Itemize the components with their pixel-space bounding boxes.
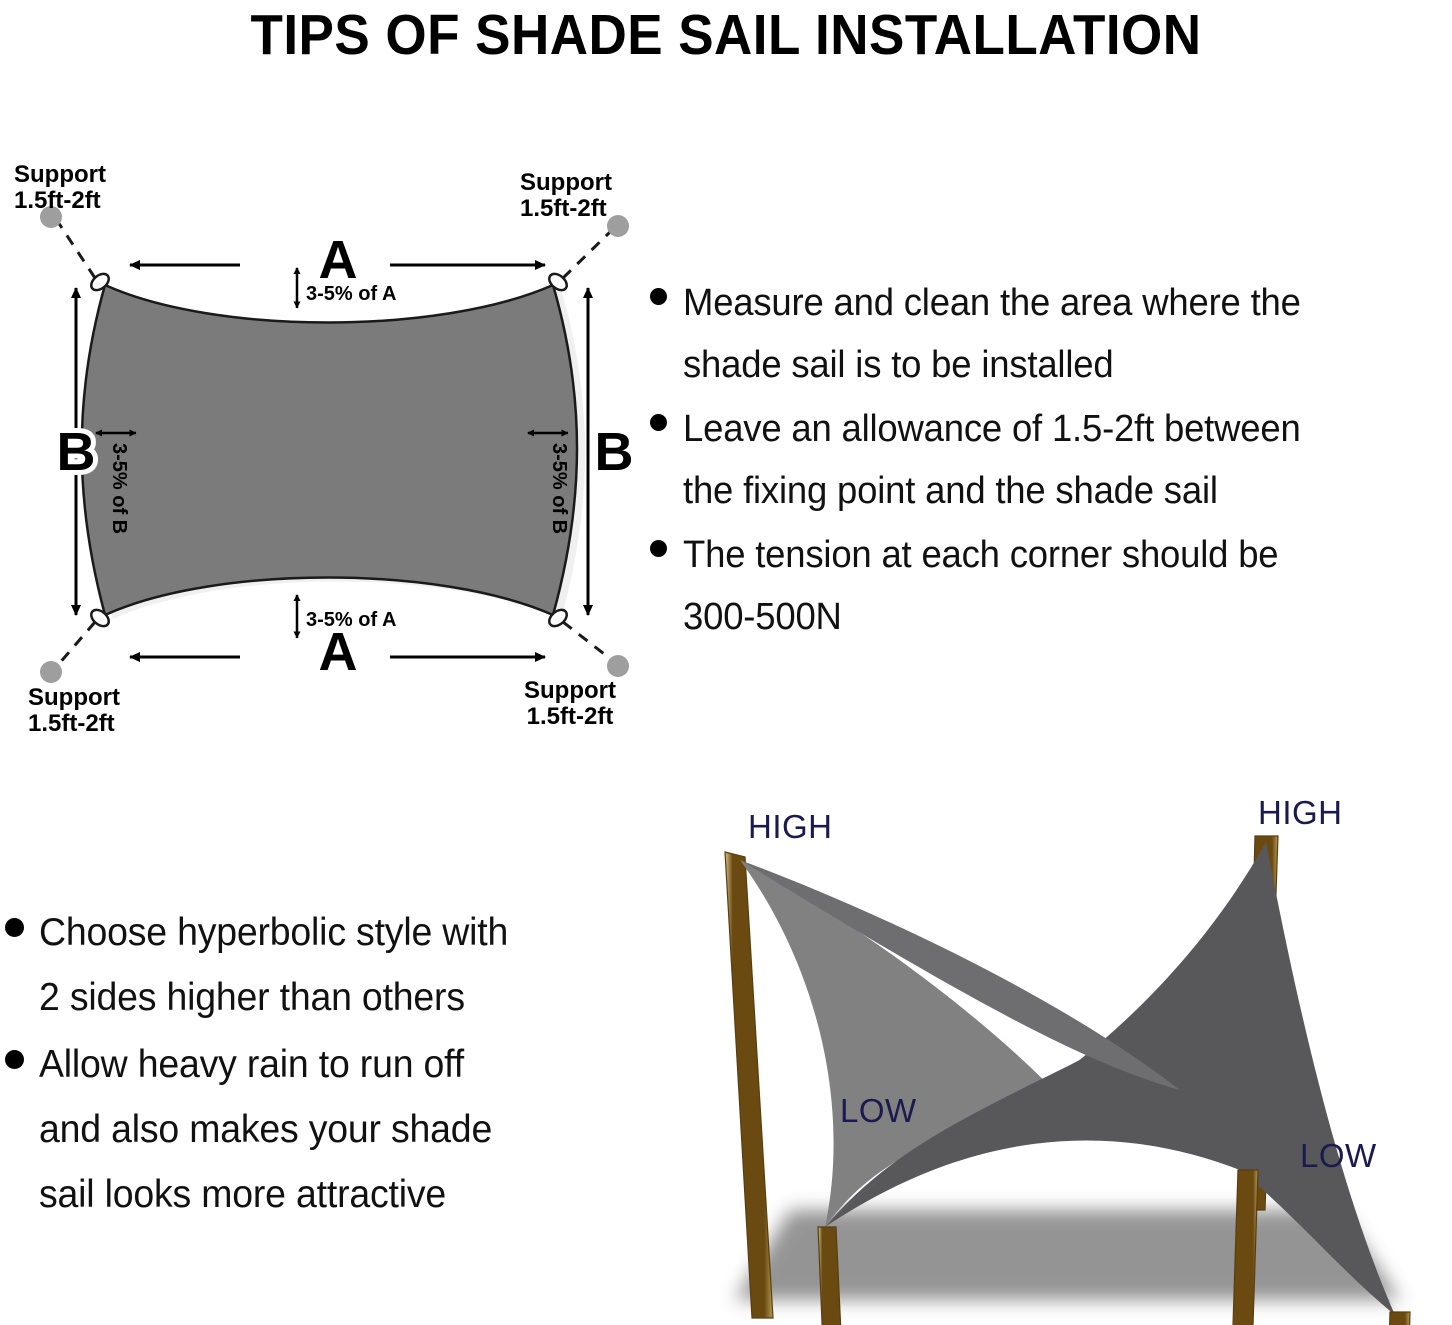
page-title: TIPS OF SHADE SAIL INSTALLATION bbox=[51, 0, 1401, 70]
hyperbolic-sail-illustration: HIGH HIGH LOW LOW bbox=[640, 790, 1452, 1325]
label-low-right: LOW bbox=[1300, 1137, 1377, 1175]
list-item: The tension at each corner should be 300… bbox=[650, 524, 1450, 648]
dimension-label-a-top: A bbox=[319, 230, 358, 290]
list-item: Allow heavy rain to run off and also mak… bbox=[5, 1032, 630, 1227]
style-tips-list: Choose hyperbolic style with 2 sides hig… bbox=[5, 900, 630, 1229]
list-item: Leave an allowance of 1.5-2ft between th… bbox=[650, 398, 1450, 522]
tip-text: Leave an allowance of 1.5-2ft between th… bbox=[683, 398, 1301, 522]
bullet-dot-icon bbox=[650, 540, 667, 557]
tip-text: The tension at each corner should be 300… bbox=[683, 524, 1278, 648]
sail-body bbox=[82, 285, 577, 615]
dimension-label-b-left: B bbox=[57, 422, 96, 482]
support-label-top-left-line2: 1.5ft-2ft bbox=[14, 187, 101, 214]
sag-label-bottom: 3-5% of A bbox=[306, 609, 396, 631]
sag-label-left: 3-5% of B bbox=[108, 443, 130, 534]
installation-tips-list: Measure and clean the area where the sha… bbox=[650, 272, 1450, 650]
tip-text: Measure and clean the area where the sha… bbox=[683, 272, 1301, 396]
pole-high-left bbox=[725, 852, 773, 1318]
list-item: Measure and clean the area where the sha… bbox=[650, 272, 1450, 396]
support-label-bottom-left-line2: 1.5ft-2ft bbox=[28, 710, 115, 737]
bullet-dot-icon bbox=[5, 918, 24, 937]
rectangular-sail-diagram: A A B B 3-5% of A 3-5% of A 3-5% of B bbox=[0, 160, 660, 740]
list-item: Choose hyperbolic style with 2 sides hig… bbox=[5, 900, 630, 1030]
infographic-page: TIPS OF SHADE SAIL INSTALLATION bbox=[0, 0, 1452, 1325]
style-tip-text: Choose hyperbolic style with 2 sides hig… bbox=[39, 900, 508, 1030]
support-label-top-right-line1: Support bbox=[520, 169, 612, 196]
sag-label-top: 3-5% of A bbox=[306, 283, 396, 305]
label-high-right: HIGH bbox=[1258, 794, 1343, 832]
support-label-bottom-right-line2: 1.5ft-2ft bbox=[527, 703, 614, 730]
sag-label-right: 3-5% of B bbox=[548, 443, 570, 534]
support-label-top-left-line1: Support bbox=[14, 161, 106, 188]
support-label-top-right-line2: 1.5ft-2ft bbox=[520, 195, 607, 222]
dimension-label-a-bottom: A bbox=[319, 622, 358, 682]
bullet-dot-icon bbox=[650, 288, 667, 305]
label-high-left: HIGH bbox=[748, 808, 833, 846]
pole-low-right bbox=[1382, 1312, 1410, 1325]
support-label-bottom-left-line1: Support bbox=[28, 684, 120, 711]
label-low-left: LOW bbox=[840, 1092, 917, 1130]
support-label-bottom-right-line1: Support bbox=[524, 677, 616, 704]
style-tip-text: Allow heavy rain to run off and also mak… bbox=[39, 1032, 492, 1227]
bullet-dot-icon bbox=[650, 414, 667, 431]
bullet-dot-icon bbox=[5, 1050, 24, 1069]
dimension-label-b-right: B bbox=[595, 422, 634, 482]
